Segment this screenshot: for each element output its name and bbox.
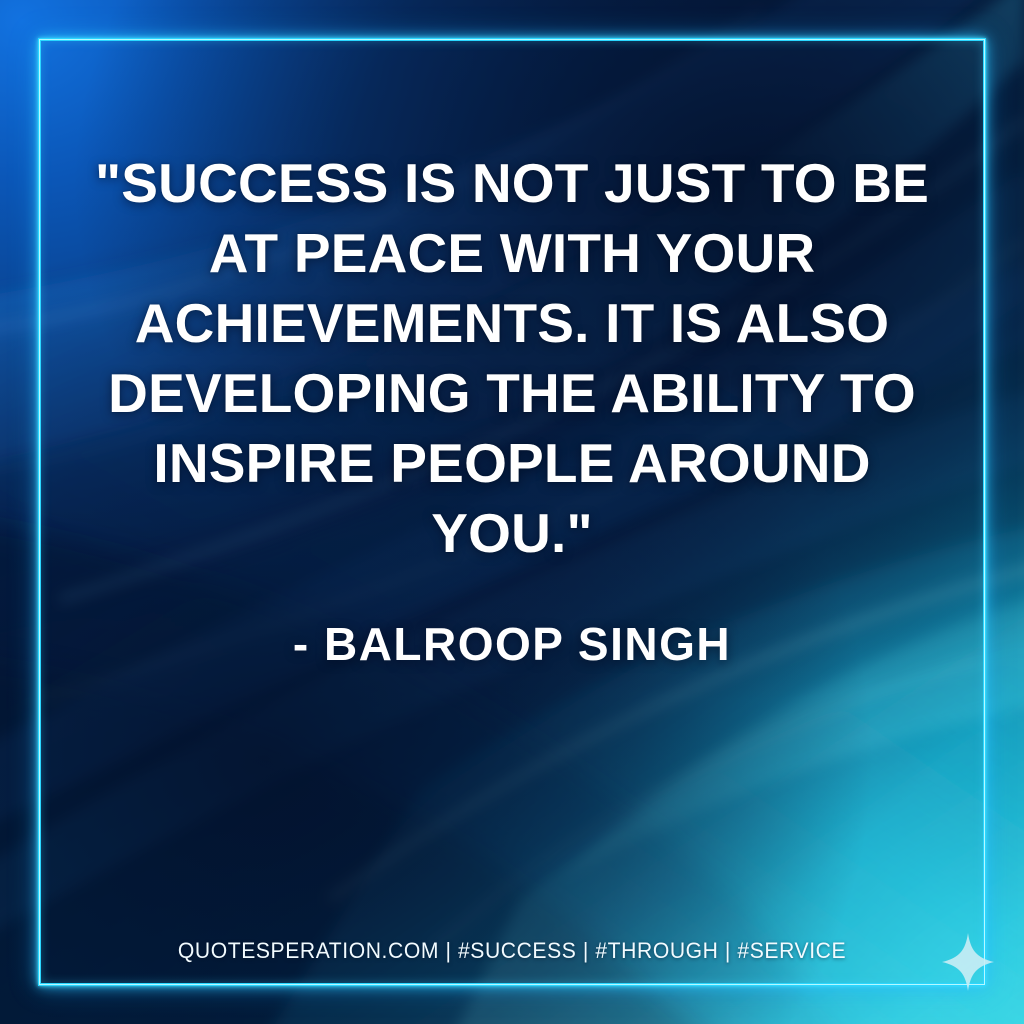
quote-line: ACHIEVEMENTS. IT IS ALSO — [92, 288, 932, 358]
quote-line: YOU." — [92, 498, 932, 568]
quote-attribution: - BALROOP SINGH — [92, 617, 932, 671]
card-content: "SUCCESS IS NOT JUST TO BE AT PEACE WITH… — [0, 0, 1024, 1024]
quote-card: "SUCCESS IS NOT JUST TO BE AT PEACE WITH… — [0, 0, 1024, 1024]
quote-line: "SUCCESS IS NOT JUST TO BE — [92, 148, 932, 218]
quote-line: AT PEACE WITH YOUR — [92, 218, 932, 288]
footer-bar: QUOTESPERATION.COM | #SUCCESS | #THROUGH… — [0, 938, 1024, 964]
quote-text: "SUCCESS IS NOT JUST TO BE AT PEACE WITH… — [92, 148, 932, 568]
quote-line: DEVELOPING THE ABILITY TO — [92, 358, 932, 428]
quote-line: INSPIRE PEOPLE AROUND — [92, 428, 932, 498]
footer-credit-text: QUOTESPERATION.COM | #SUCCESS | #THROUGH… — [178, 938, 846, 964]
